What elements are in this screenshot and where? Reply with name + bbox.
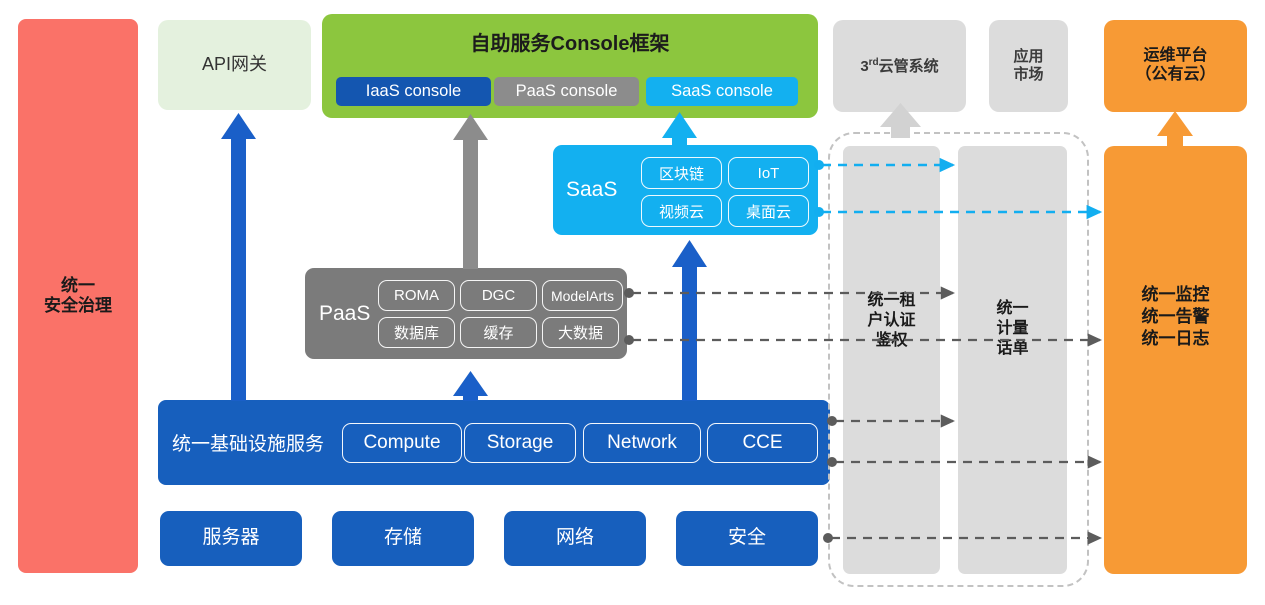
console-framework-title: 自助服务Console框架 bbox=[322, 27, 818, 56]
unified-metering-billing-label: 统一 计量 话单 bbox=[958, 299, 1067, 359]
paas-item-dgc[interactable]: DGC bbox=[460, 280, 537, 311]
arrow-infra-to-paas bbox=[453, 371, 488, 401]
resource-label: 安全 bbox=[728, 527, 766, 549]
paas-item-database[interactable]: 数据库 bbox=[378, 317, 455, 348]
security-line-1: 统一 bbox=[61, 276, 95, 296]
infra-item-label: Storage bbox=[487, 432, 554, 454]
saas-item-iot[interactable]: IoT bbox=[728, 157, 809, 189]
saas-item-label: 区块链 bbox=[659, 163, 704, 184]
saas-item-desktop-cloud[interactable]: 桌面云 bbox=[728, 195, 809, 227]
arrow-infra-to-api-gateway bbox=[221, 113, 256, 401]
resource-box-server[interactable]: 服务器 bbox=[160, 511, 302, 566]
paas-item-roma[interactable]: ROMA bbox=[378, 280, 455, 311]
saas-item-label: IoT bbox=[758, 165, 780, 182]
unified-tenant-auth-column: 统一租 户认证 鉴权 bbox=[843, 146, 940, 574]
saas-item-blockchain[interactable]: 区块链 bbox=[641, 157, 722, 189]
third-party-cloud-mgmt-block: 3rd云管系统 bbox=[833, 20, 966, 112]
infra-item-label: Network bbox=[607, 432, 677, 454]
security-line-2: 安全治理 bbox=[44, 296, 112, 316]
saas-item-label: 视频云 bbox=[659, 201, 704, 222]
saas-label: SaaS bbox=[566, 145, 617, 235]
paas-item-label: 缓存 bbox=[483, 322, 513, 343]
saas-console-label: SaaS console bbox=[671, 82, 773, 101]
third-party-label: 3rd云管系统 bbox=[860, 57, 938, 76]
resource-label: 存储 bbox=[384, 527, 422, 549]
paas-item-label: 大数据 bbox=[558, 322, 603, 343]
infra-item-label: CCE bbox=[742, 432, 782, 454]
resource-label: 服务器 bbox=[202, 527, 259, 549]
app-market-line-1: 应用 bbox=[1013, 48, 1043, 66]
infra-item-cce[interactable]: CCE bbox=[707, 423, 818, 463]
arrow-ops-column-to-ops-platform bbox=[1157, 111, 1193, 148]
arrow-paas-to-console bbox=[453, 114, 488, 269]
saas-item-video-cloud[interactable]: 视频云 bbox=[641, 195, 722, 227]
resource-box-security[interactable]: 安全 bbox=[676, 511, 818, 566]
saas-console-pill[interactable]: SaaS console bbox=[646, 77, 798, 106]
arrow-infra-to-saas bbox=[672, 240, 707, 401]
paas-item-label: ModelArts bbox=[551, 288, 614, 304]
infra-item-storage[interactable]: Storage bbox=[464, 423, 576, 463]
unified-infrastructure-service-block: 统一基础设施服务 Compute Storage Network CCE bbox=[158, 400, 830, 485]
infrastructure-label: 统一基础设施服务 bbox=[172, 400, 324, 485]
ops-monitoring-label: 统一监控 统一告警 统一日志 bbox=[1104, 284, 1247, 350]
app-market-line-2: 市场 bbox=[1013, 66, 1043, 84]
ops-platform-public-cloud-block: 运维平台 （公有云） bbox=[1104, 20, 1247, 112]
paas-label: PaaS bbox=[319, 268, 370, 359]
unified-metering-billing-column: 统一 计量 话单 bbox=[958, 146, 1067, 574]
paas-item-cache[interactable]: 缓存 bbox=[460, 317, 537, 348]
iaas-console-pill[interactable]: IaaS console bbox=[336, 77, 491, 106]
saas-item-label: 桌面云 bbox=[746, 201, 791, 222]
infra-item-label: Compute bbox=[363, 432, 440, 454]
infra-item-network[interactable]: Network bbox=[583, 423, 701, 463]
iaas-console-label: IaaS console bbox=[366, 82, 461, 101]
ops-top-line-1: 运维平台 bbox=[1143, 47, 1207, 66]
ops-monitoring-column: 统一监控 统一告警 统一日志 bbox=[1104, 146, 1247, 574]
paas-console-pill[interactable]: PaaS console bbox=[494, 77, 639, 106]
resource-box-network[interactable]: 网络 bbox=[504, 511, 646, 566]
app-market-block: 应用 市场 bbox=[989, 20, 1068, 112]
infra-item-compute[interactable]: Compute bbox=[342, 423, 462, 463]
api-gateway-label: API网关 bbox=[202, 54, 267, 75]
paas-block: PaaS ROMA DGC ModelArts 数据库 缓存 大数据 bbox=[305, 268, 627, 359]
saas-block: SaaS 区块链 IoT 视频云 桌面云 bbox=[553, 145, 818, 235]
paas-item-modelarts[interactable]: ModelArts bbox=[542, 280, 623, 311]
unified-security-governance-block: 统一 安全治理 bbox=[18, 19, 138, 573]
resource-box-storage[interactable]: 存储 bbox=[332, 511, 474, 566]
resource-label: 网络 bbox=[556, 527, 594, 549]
unified-tenant-auth-label: 统一租 户认证 鉴权 bbox=[843, 291, 940, 351]
paas-item-bigdata[interactable]: 大数据 bbox=[542, 317, 619, 348]
paas-console-label: PaaS console bbox=[516, 82, 618, 101]
paas-item-label: ROMA bbox=[394, 287, 439, 304]
architecture-diagram: 统一 安全治理 API网关 自助服务Console框架 IaaS console… bbox=[0, 0, 1265, 605]
paas-item-label: DGC bbox=[482, 287, 515, 304]
ops-top-line-2: （公有云） bbox=[1135, 66, 1215, 85]
api-gateway-block: API网关 bbox=[158, 20, 311, 110]
console-framework-block: 自助服务Console框架 IaaS console PaaS console … bbox=[322, 14, 818, 118]
paas-item-label: 数据库 bbox=[394, 322, 439, 343]
